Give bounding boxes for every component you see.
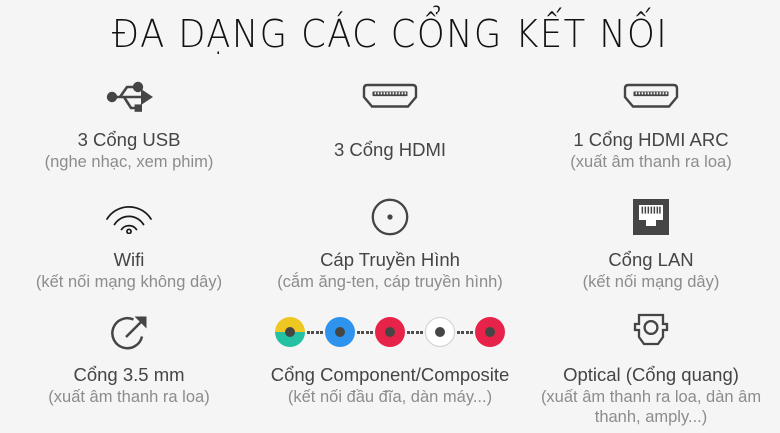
port-item-hdmi: 3 Cổng HDMI — [258, 72, 522, 190]
port-item-component-composite: Cổng Component/Composite (kết nối đầu đĩ… — [258, 305, 522, 433]
rca-pin — [335, 327, 345, 337]
port-sublabel: (xuất âm thanh ra loa) — [570, 152, 731, 172]
port-item-optical: Optical (Cổng quang) (xuất âm thanh ra l… — [522, 305, 780, 433]
rca-pin — [385, 327, 395, 337]
connectivity-infographic: ĐA DẠNG CÁC CỔNG KẾT NỐI 3 Cổng USB — [0, 0, 780, 433]
port-item-wifi: Wifi (kết nối mạng không dây) — [0, 190, 258, 305]
page-title: ĐA DẠNG CÁC CỔNG KẾT NỐI — [27, 8, 752, 60]
rca-pin — [285, 327, 295, 337]
rca-connector-red — [375, 317, 405, 347]
port-item-lan: Cổng LAN (kết nối mạng dây) — [522, 190, 780, 305]
port-label: Wifi — [114, 248, 145, 271]
ports-grid: 3 Cổng USB (nghe nhạc, xem phim) — [0, 72, 780, 433]
port-sublabel: (nghe nhạc, xem phim) — [45, 152, 214, 172]
rca-pin — [485, 327, 495, 337]
rca-component-composite-icon — [275, 309, 505, 355]
hdmi-arc-port-icon — [616, 74, 686, 120]
port-label: Cổng LAN — [608, 248, 693, 271]
port-sublabel: (cắm ăng-ten, cáp truyền hình) — [277, 272, 503, 292]
rca-connector-green-yellow — [275, 317, 305, 347]
port-item-coaxial: Cáp Truyền Hình (cắm ăng-ten, cáp truyền… — [258, 190, 522, 305]
port-label: Cổng Component/Composite — [271, 363, 510, 386]
wifi-icon — [103, 194, 155, 240]
port-item-hdmi-arc: 1 Cổng HDMI ARC (xuất âm thanh ra loa) — [522, 72, 780, 190]
port-sublabel: (kết nối mạng dây) — [583, 272, 720, 292]
port-label: 3 Cổng USB — [78, 128, 181, 151]
port-sublabel: (xuất âm thanh ra loa) — [48, 387, 209, 407]
rca-connector-blue — [325, 317, 355, 347]
optical-toslink-port-icon — [627, 309, 675, 355]
port-label: 1 Cổng HDMI ARC — [573, 128, 728, 151]
port-sublabel: (kết nối mạng không dây) — [36, 272, 222, 292]
coaxial-antenna-icon — [368, 194, 412, 240]
port-label: Optical (Cổng quang) — [563, 363, 739, 386]
hdmi-port-icon — [355, 74, 425, 120]
dotted-separator — [457, 331, 473, 334]
port-label: Cổng 3.5 mm — [73, 363, 184, 386]
dotted-separator — [307, 331, 323, 334]
dotted-separator — [407, 331, 423, 334]
port-item-usb: 3 Cổng USB (nghe nhạc, xem phim) — [0, 72, 258, 190]
dotted-separator — [357, 331, 373, 334]
port-sublabel: (xuất âm thanh ra loa, dàn âm thanh, amp… — [536, 387, 766, 427]
usb-icon — [101, 74, 157, 120]
rca-connector-red-audio — [475, 317, 505, 347]
lan-ethernet-port-icon — [631, 194, 671, 240]
audio-out-jack-icon — [106, 309, 152, 355]
port-sublabel: (kết nối đầu đĩa, dàn máy...) — [288, 387, 492, 407]
port-item-audio-jack: Cổng 3.5 mm (xuất âm thanh ra loa) — [0, 305, 258, 433]
rca-connector-white — [425, 317, 455, 347]
port-label: 3 Cổng HDMI — [334, 138, 446, 161]
port-label: Cáp Truyền Hình — [320, 248, 460, 271]
rca-pin — [435, 327, 445, 337]
